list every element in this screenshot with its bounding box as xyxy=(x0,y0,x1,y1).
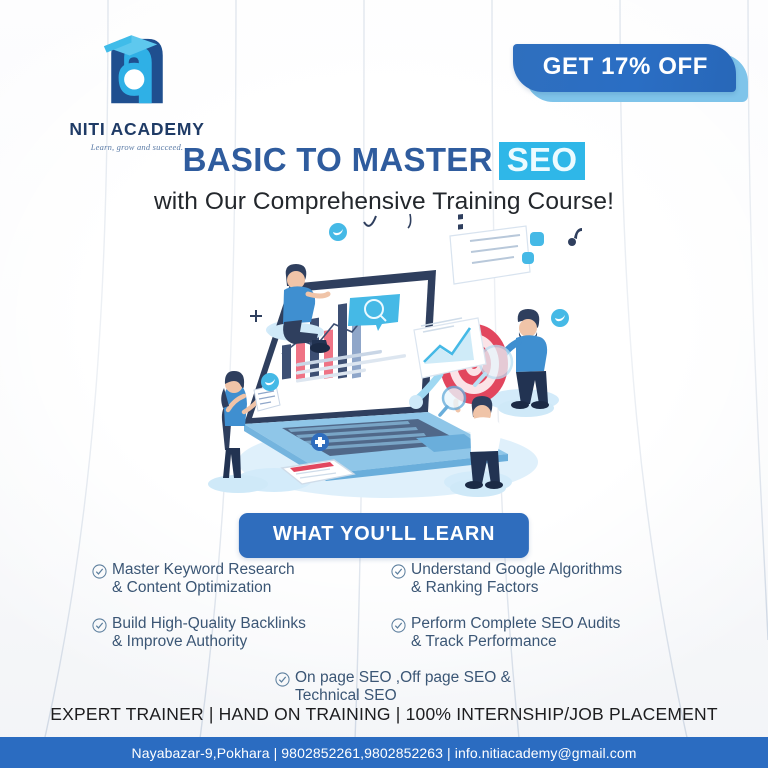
academy-a-graduation-cap-logo-icon xyxy=(91,26,183,118)
circle-check-icon xyxy=(275,672,290,687)
circle-check-icon xyxy=(391,564,406,579)
feature-label: Master Keyword Research & Content Optimi… xyxy=(112,561,295,598)
brand-name: NITI ACADEMY xyxy=(62,119,212,140)
feature-label: On page SEO ,Off page SEO & Technical SE… xyxy=(295,669,511,706)
contact-details[interactable]: Nayabazar-9,Pokhara | 9802852261,9802852… xyxy=(132,745,637,761)
features-center-row: On page SEO ,Off page SEO & Technical SE… xyxy=(0,669,768,706)
feature-item: Build High-Quality Backlinks & Improve A… xyxy=(92,615,391,652)
features-column-right: Understand Google Algorithms & Ranking F… xyxy=(391,561,690,668)
feature-label: Perform Complete SEO Audits & Track Perf… xyxy=(411,615,620,652)
feature-item: Master Keyword Research & Content Optimi… xyxy=(92,561,391,598)
feature-label: Build High-Quality Backlinks & Improve A… xyxy=(112,615,306,652)
seo-isometric-illustration xyxy=(178,212,598,512)
circle-check-icon xyxy=(92,618,107,633)
headline-block: BASIC TO MASTERSEO with Our Comprehensiv… xyxy=(0,142,768,216)
circle-check-icon xyxy=(391,618,406,633)
poster-canvas: NITI ACADEMY Learn, grow and succeed. GE… xyxy=(0,0,768,768)
circle-check-icon xyxy=(92,564,107,579)
headline-primary-text: BASIC TO MASTER xyxy=(183,141,493,178)
features-section: Master Keyword Research & Content Optimi… xyxy=(0,561,768,706)
promo-badge-label: GET 17% OFF xyxy=(543,53,708,80)
brand-logo: NITI ACADEMY Learn, grow and succeed. xyxy=(62,26,212,152)
headline-primary: BASIC TO MASTERSEO xyxy=(0,142,768,180)
value-proposition-strip: EXPERT TRAINER | HAND ON TRAINING | 100%… xyxy=(0,704,768,725)
headline-highlight-seo: SEO xyxy=(499,142,586,180)
feature-item: Understand Google Algorithms & Ranking F… xyxy=(391,561,690,598)
what-youll-learn-pill[interactable]: WHAT YOU'LL LEARN xyxy=(239,513,529,558)
feature-item: Perform Complete SEO Audits & Track Perf… xyxy=(391,615,690,652)
promo-badge-body: GET 17% OFF xyxy=(513,44,736,92)
contact-footer-bar: Nayabazar-9,Pokhara | 9802852261,9802852… xyxy=(0,737,768,768)
feature-label: Understand Google Algorithms & Ranking F… xyxy=(411,561,622,598)
promo-badge[interactable]: GET 17% OFF xyxy=(513,44,736,92)
feature-item: On page SEO ,Off page SEO & Technical SE… xyxy=(275,669,511,706)
features-column-left: Master Keyword Research & Content Optimi… xyxy=(92,561,391,668)
checklist-card xyxy=(450,212,530,284)
headline-subtitle: with Our Comprehensive Training Course! xyxy=(0,188,768,216)
